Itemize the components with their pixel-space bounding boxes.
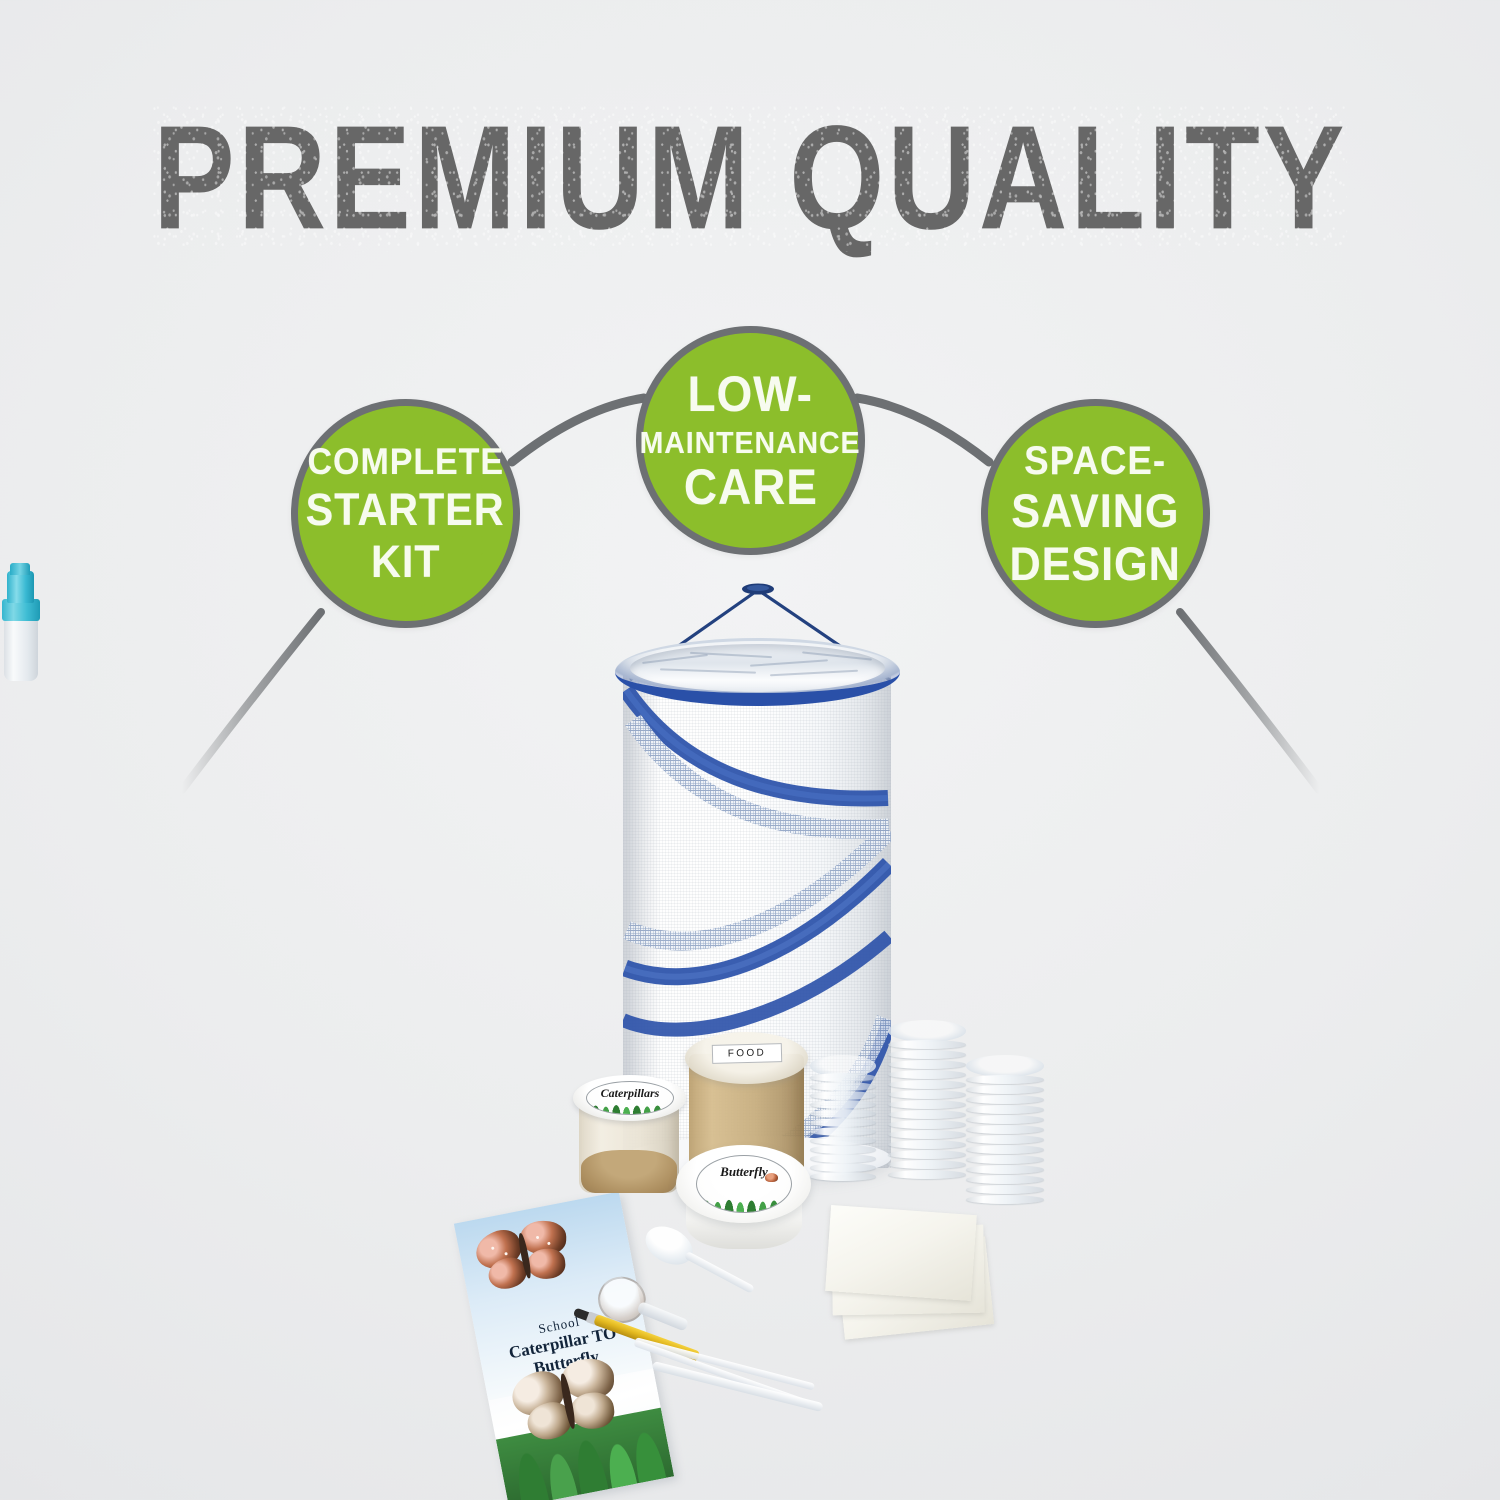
feature-badge-low-maintenance-care[interactable]: LOW- MAINTENANCE CARE xyxy=(636,326,865,555)
magnifier-handle xyxy=(636,1301,689,1332)
feature-badge-space-saving-design[interactable]: SPACE- SAVING DESIGN xyxy=(981,399,1210,628)
feature-line-3: KIT xyxy=(371,539,440,584)
caterpillar-label-text: Caterpillars xyxy=(601,1086,660,1101)
butterfly-label-text: Butterfly xyxy=(720,1164,768,1180)
feature-badge-complete-starter-kit[interactable]: COMPLETE STARTER KIT xyxy=(291,399,520,628)
clear-cup-stack-a xyxy=(888,1020,966,1188)
food-label: FOOD xyxy=(712,1043,782,1064)
label-grass-graphic xyxy=(587,1099,673,1115)
butterfly-container: Butterfly xyxy=(676,1145,811,1255)
feature-line-1: SPACE- xyxy=(1025,441,1167,481)
cage-top-opening xyxy=(630,644,885,692)
paper-towel-sheet xyxy=(825,1205,977,1301)
butterfly-label: Butterfly xyxy=(696,1155,792,1213)
page-title-text: PREMIUM QUALITY xyxy=(153,95,1347,260)
spray-bottle xyxy=(0,555,43,681)
page-title-container: PREMIUM QUALITY xyxy=(0,104,1500,236)
feature-line-1: COMPLETE xyxy=(307,443,503,480)
caterpillar-label: Caterpillars xyxy=(586,1081,674,1115)
feature-line-2: STARTER xyxy=(306,487,505,532)
feature-line-1: LOW- xyxy=(688,369,813,419)
feature-line-2: MAINTENANCE xyxy=(640,427,861,458)
label-grass-graphic xyxy=(697,1192,791,1213)
caterpillar-food-medium xyxy=(581,1150,677,1193)
spray-bottle-nozzle xyxy=(10,563,30,575)
caterpillar-container: Caterpillars xyxy=(573,1040,686,1195)
cup-lid-stack xyxy=(810,1055,876,1191)
feature-line-3: CARE xyxy=(683,462,817,512)
spray-bottle-head xyxy=(7,571,34,603)
cup-stack-top-rim xyxy=(888,1020,966,1042)
feature-line-2: SAVING xyxy=(1011,487,1179,534)
spray-bottle-barrel xyxy=(4,615,38,681)
page-title: PREMIUM QUALITY xyxy=(153,104,1347,252)
pipette-tube xyxy=(684,1251,755,1294)
feature-line-3: DESIGN xyxy=(1010,540,1181,587)
clear-cup-stack-b xyxy=(966,1055,1044,1217)
product-photo: School Caterpillar TO Butterfly Caterpil… xyxy=(0,555,1500,1500)
paper-towels xyxy=(828,1210,1003,1340)
cup-stack-top-rim xyxy=(966,1055,1044,1077)
food-label-text: FOOD xyxy=(728,1047,767,1059)
